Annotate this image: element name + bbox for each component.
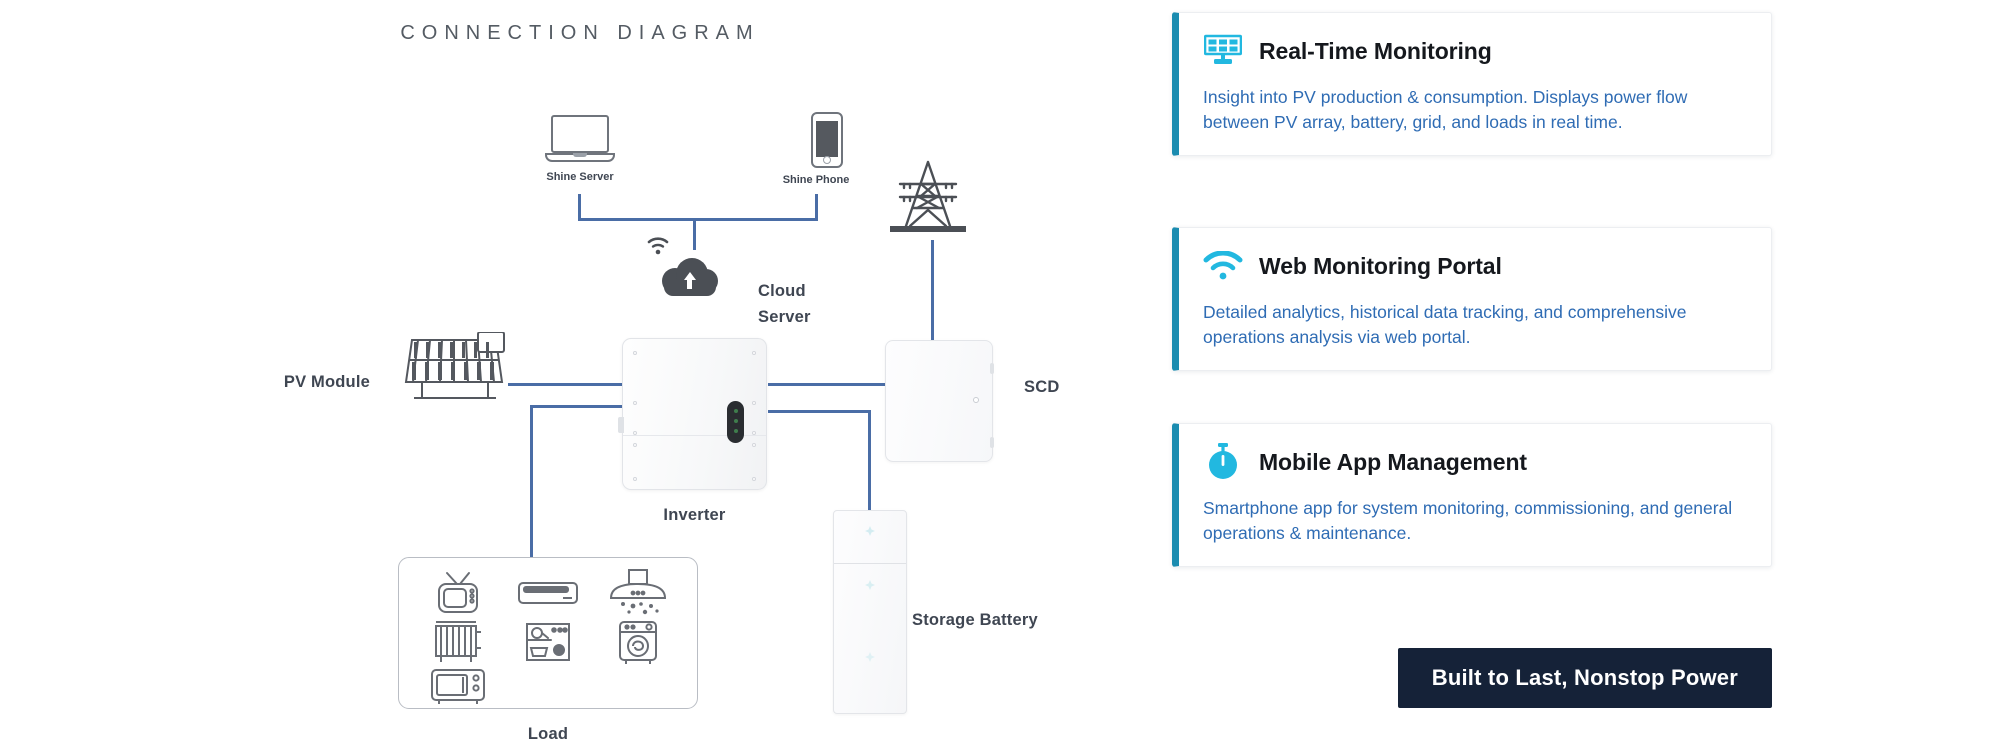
shine-phone-label: Shine Phone [779, 174, 853, 186]
solar-panel-icon [1203, 31, 1243, 71]
battery-cabinet-icon [833, 510, 907, 714]
card-title: Real-Time Monitoring [1259, 38, 1492, 65]
card-body: Insight into PV production & consumption… [1203, 85, 1745, 135]
node-shine-server: Shine Server [545, 115, 615, 183]
air-conditioner-icon [517, 580, 579, 606]
inverter-label: Inverter [622, 506, 767, 525]
card-title: Mobile App Management [1259, 449, 1527, 476]
card-header: Real-Time Monitoring [1203, 31, 1745, 71]
node-scd [885, 340, 993, 462]
wire-top-bus [578, 218, 818, 221]
node-storage-battery [833, 510, 907, 714]
laptop-icon [545, 115, 615, 165]
load-appliances-box [398, 557, 698, 709]
wire-inverter-battery-down [868, 410, 871, 518]
inverter-unit-icon [622, 338, 767, 490]
card-body: Smartphone app for system monitoring, co… [1203, 496, 1745, 546]
load-label: Load [398, 725, 698, 744]
wifi-icon [1203, 246, 1243, 286]
stopwatch-icon [1203, 442, 1243, 482]
wire-inverter-to-battery [768, 410, 871, 413]
node-inverter: Inverter [622, 338, 767, 525]
node-shine-phone: Shine Phone [800, 112, 853, 186]
node-load: Load [398, 557, 698, 744]
scd-unit-icon [885, 340, 993, 462]
wire-inverter-to-scd [768, 383, 888, 386]
scd-label: SCD [1024, 378, 1059, 397]
node-grid-pylon [880, 158, 976, 241]
battery-module-mark-icon [864, 651, 876, 663]
storage-battery-label: Storage Battery [912, 611, 1038, 630]
wire-grid-to-scd [931, 240, 934, 340]
connection-diagram: CONNECTION DIAGRAM Shine Server Shine Ph… [0, 0, 1160, 754]
node-cloud-server [658, 252, 722, 298]
coffee-maker-icon [521, 618, 575, 666]
cloud-upload-icon [658, 252, 722, 298]
cloud-server-label-line2: Server [758, 308, 811, 327]
wire-phone-down [815, 194, 818, 220]
feature-card-mobile-app-management[interactable]: Mobile App Management Smartphone app for… [1172, 423, 1772, 567]
battery-module-mark-icon [864, 579, 876, 591]
wire-pv-to-inverter-2 [530, 405, 635, 408]
node-pv-module [400, 332, 510, 411]
transmission-tower-icon [880, 158, 976, 236]
range-hood-icon [607, 568, 669, 618]
card-title: Web Monitoring Portal [1259, 253, 1502, 280]
wire-server-down [578, 194, 581, 220]
microwave-icon [429, 666, 487, 708]
tagline-banner: Built to Last, Nonstop Power [1398, 648, 1772, 708]
tv-icon [431, 570, 485, 616]
pv-module-label: PV Module [250, 373, 370, 392]
wire-bus-to-cloud [693, 218, 696, 250]
card-header: Mobile App Management [1203, 442, 1745, 482]
wire-inverter-to-load [530, 405, 533, 560]
page-root: CONNECTION DIAGRAM Shine Server Shine Ph… [0, 0, 2000, 754]
smartphone-icon [811, 112, 843, 168]
shine-server-label: Shine Server [545, 171, 615, 183]
card-body: Detailed analytics, historical data trac… [1203, 300, 1745, 350]
diagram-title: CONNECTION DIAGRAM [0, 22, 1160, 45]
features-panel: Real-Time Monitoring Insight into PV pro… [1160, 0, 2000, 754]
feature-card-real-time-monitoring[interactable]: Real-Time Monitoring Insight into PV pro… [1172, 12, 1772, 156]
cloud-server-label-line1: Cloud [758, 282, 806, 301]
radiator-icon [432, 618, 484, 666]
wifi-signal-icon [646, 236, 670, 256]
feature-card-web-monitoring-portal[interactable]: Web Monitoring Portal Detailed analytics… [1172, 227, 1772, 371]
wire-pv-to-inverter [508, 383, 635, 386]
washing-machine-icon [616, 618, 660, 666]
card-header: Web Monitoring Portal [1203, 246, 1745, 286]
battery-module-mark-icon [864, 525, 876, 537]
solar-panel-array-icon [400, 332, 510, 406]
